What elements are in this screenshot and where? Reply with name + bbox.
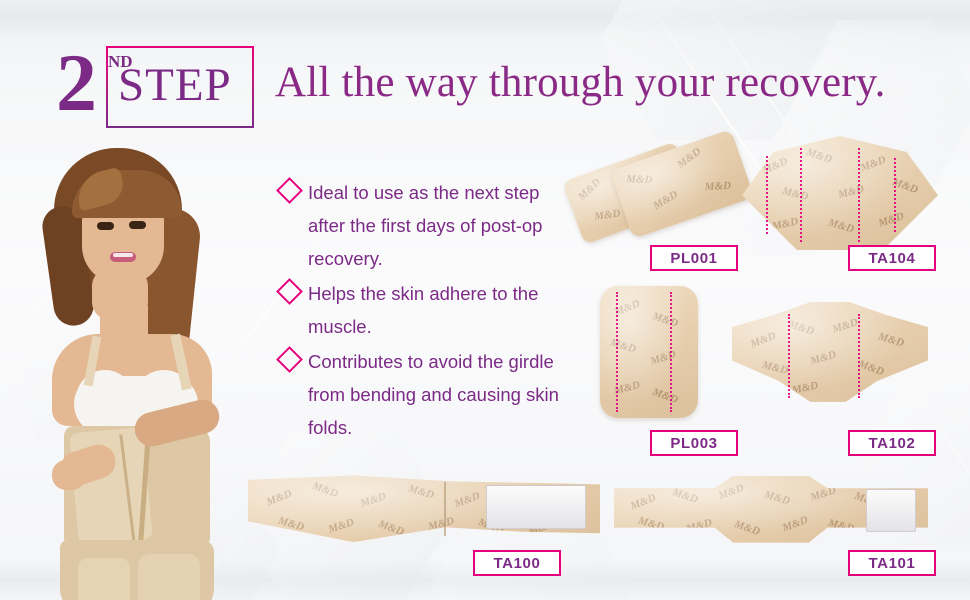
list-item: Helps the skin adhere to the muscle. bbox=[280, 277, 560, 343]
product-image-ta100: M&D M&D M&D M&D M&D M&D M&D M&D M&D M&D … bbox=[248, 474, 600, 548]
diamond-bullet-icon bbox=[276, 177, 303, 204]
product-label-ta102: TA102 bbox=[848, 430, 936, 456]
product-image-pl003: M&D M&D M&D M&D M&D M&D bbox=[600, 286, 698, 418]
step-badge: 2 ND STEP bbox=[56, 46, 250, 124]
product-image-ta101: M&D M&D M&D M&D M&D M&D M&D M&D M&D M&D … bbox=[614, 476, 928, 544]
product-image-pl001: M&D M&D M&D M&D M&D M&D M&D M&D bbox=[570, 142, 750, 252]
product-image-ta104: M&D M&D M&D M&D M&D M&D M&D M&D M&D bbox=[742, 136, 938, 250]
foam-board: M&D M&D M&D M&D M&D M&D bbox=[600, 286, 698, 418]
velcro-panel bbox=[866, 489, 916, 532]
flex-line bbox=[670, 292, 672, 412]
product-label-pl003: PL003 bbox=[650, 430, 738, 456]
flex-line bbox=[616, 292, 618, 412]
product-label-pl001: PL001 bbox=[650, 245, 738, 271]
flex-line bbox=[858, 314, 860, 398]
diamond-bullet-icon bbox=[276, 278, 303, 305]
list-item: Contributes to avoid the girdle from ben… bbox=[280, 345, 560, 444]
benefit-text: Ideal to use as the next step after the … bbox=[308, 176, 560, 275]
step-number: 2 bbox=[56, 42, 95, 124]
flex-line bbox=[800, 148, 802, 242]
benefits-list: Ideal to use as the next step after the … bbox=[280, 176, 560, 446]
model-photo bbox=[0, 118, 250, 600]
product-label-ta100: TA100 bbox=[473, 550, 561, 576]
step-ordinal-suffix: ND bbox=[108, 52, 133, 72]
flex-line bbox=[894, 158, 896, 232]
product-label-ta104: TA104 bbox=[848, 245, 936, 271]
flex-line bbox=[858, 148, 860, 242]
flex-line bbox=[788, 314, 790, 398]
model-figure bbox=[30, 148, 220, 600]
benefit-text: Helps the skin adhere to the muscle. bbox=[308, 277, 560, 343]
flex-line bbox=[766, 156, 768, 234]
foam-board: M&D M&D M&D M&D M&D M&D M&D M&D M&D bbox=[742, 136, 938, 250]
benefit-text: Contributes to avoid the girdle from ben… bbox=[308, 345, 560, 444]
step-word: STEP bbox=[118, 62, 232, 109]
product-image-ta102: M&D M&D M&D M&D M&D M&D M&D M&D bbox=[732, 300, 928, 404]
product-label-ta101: TA101 bbox=[848, 550, 936, 576]
list-item: Ideal to use as the next step after the … bbox=[280, 176, 560, 275]
promo-banner: 2 ND STEP All the way through your recov… bbox=[0, 0, 970, 600]
velcro-panel bbox=[486, 485, 586, 529]
headline: All the way through your recovery. bbox=[275, 58, 886, 107]
foam-board-front: M&D M&D M&D M&D bbox=[610, 129, 754, 239]
diamond-bullet-icon bbox=[276, 346, 303, 373]
foam-board: M&D M&D M&D M&D M&D M&D M&D M&D bbox=[732, 300, 928, 404]
